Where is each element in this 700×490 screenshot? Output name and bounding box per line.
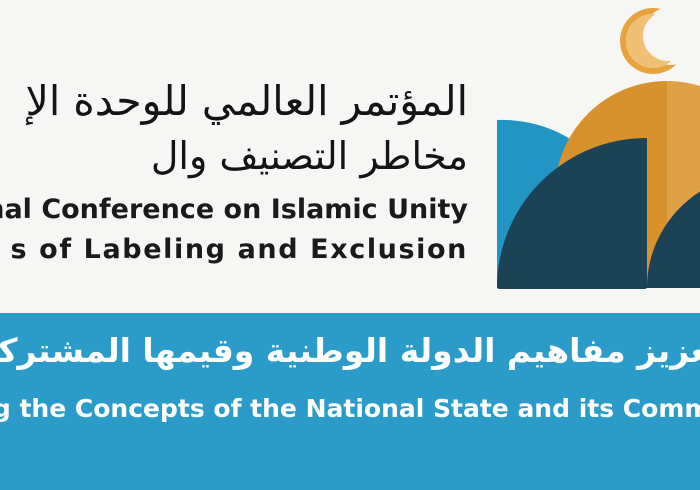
poster-title-block: المؤتمر العالمي للوحدة الإ مخاطر التصنيف… [0,74,468,270]
conference-poster: المؤتمر العالمي للوحدة الإ مخاطر التصنيف… [0,0,700,490]
english-title-line-2: s of Labeling and Exclusion [0,230,468,270]
conference-logo [480,0,700,300]
crescent-moon-icon [610,0,700,90]
banner-arabic-text: تعزيز مفاهيم الدولة الوطنية وقيمها المشت… [0,325,700,377]
arabic-title-line-1: المؤتمر العالمي للوحدة الإ [0,74,468,128]
poster-header-area: المؤتمر العالمي للوحدة الإ مخاطر التصنيف… [0,0,700,313]
poster-banner: تعزيز مفاهيم الدولة الوطنية وقيمها المشت… [0,313,700,490]
banner-english-text: ting the Concepts of the National State … [0,389,700,429]
english-title-line-1: onal Conference on Islamic Unity [0,190,468,230]
banner-text-block: تعزيز مفاهيم الدولة الوطنية وقيمها المشت… [0,325,700,429]
arabic-title-line-2: مخاطر التصنيف وال [0,128,468,184]
